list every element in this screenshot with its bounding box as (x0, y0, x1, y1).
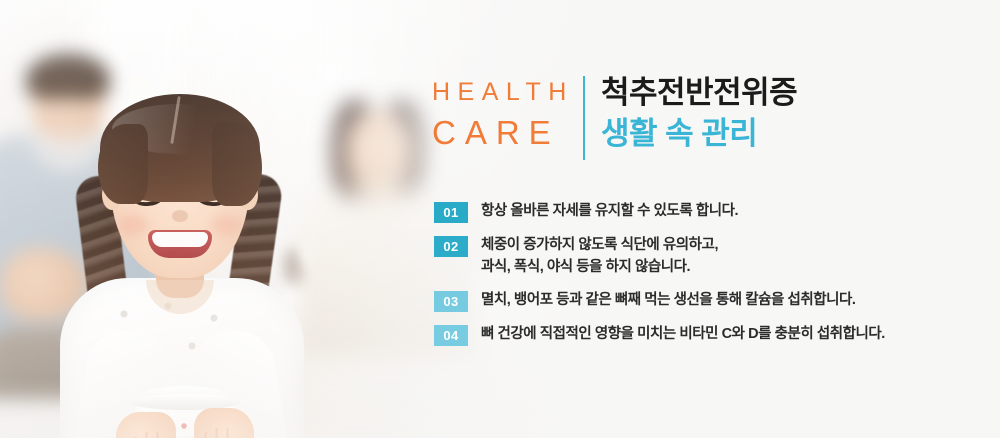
headline-divider (583, 76, 585, 160)
advice-badge-01: 01 (434, 202, 468, 223)
advice-text-03: 멸치, 뱅어포 등과 같은 뼈째 먹는 생선을 통해 칼슘을 섭취합니다. (481, 289, 856, 311)
advice-text-04: 뼈 건강에 직접적인 영향을 미치는 비타민 C와 D를 충분히 섭취합니다. (481, 323, 885, 345)
headline-korean: 척추전반전위증 생활 속 관리 (601, 76, 797, 151)
headline-word-health: HEALTH (432, 80, 580, 105)
advice-item-03: 03 멸치, 뱅어포 등과 같은 뼈째 먹는 생선을 통해 칼슘을 섭취합니다. (434, 289, 974, 312)
headline-english: HEALTH CARE (432, 76, 580, 149)
advice-badge-04: 04 (434, 325, 468, 346)
advice-list: 01 항상 올바른 자세를 유지할 수 있도록 합니다. 02 체중이 증가하지… (434, 200, 974, 357)
banner-headline: HEALTH CARE 척추전반전위증 생활 속 관리 (432, 76, 797, 160)
advice-text-01: 항상 올바른 자세를 유지할 수 있도록 합니다. (481, 200, 738, 222)
headline-korean-condition: 척추전반전위증 (601, 76, 797, 111)
advice-item-01: 01 항상 올바른 자세를 유지할 수 있도록 합니다. (434, 200, 974, 223)
healthcare-banner: HEALTH CARE 척추전반전위증 생활 속 관리 01 항상 올바른 자세… (0, 0, 1000, 438)
advice-badge-03: 03 (434, 291, 468, 312)
banner-content: HEALTH CARE 척추전반전위증 생활 속 관리 01 항상 올바른 자세… (0, 0, 1000, 438)
advice-text-02: 체중이 증가하지 않도록 식단에 유의하고, 과식, 폭식, 야식 등을 하지 … (481, 234, 718, 278)
headline-korean-subtitle: 생활 속 관리 (601, 117, 797, 152)
headline-word-care: CARE (432, 116, 580, 149)
advice-item-04: 04 뼈 건강에 직접적인 영향을 미치는 비타민 C와 D를 충분히 섭취합니… (434, 323, 974, 346)
advice-badge-02: 02 (434, 236, 468, 257)
advice-item-02: 02 체중이 증가하지 않도록 식단에 유의하고, 과식, 폭식, 야식 등을 … (434, 234, 974, 278)
